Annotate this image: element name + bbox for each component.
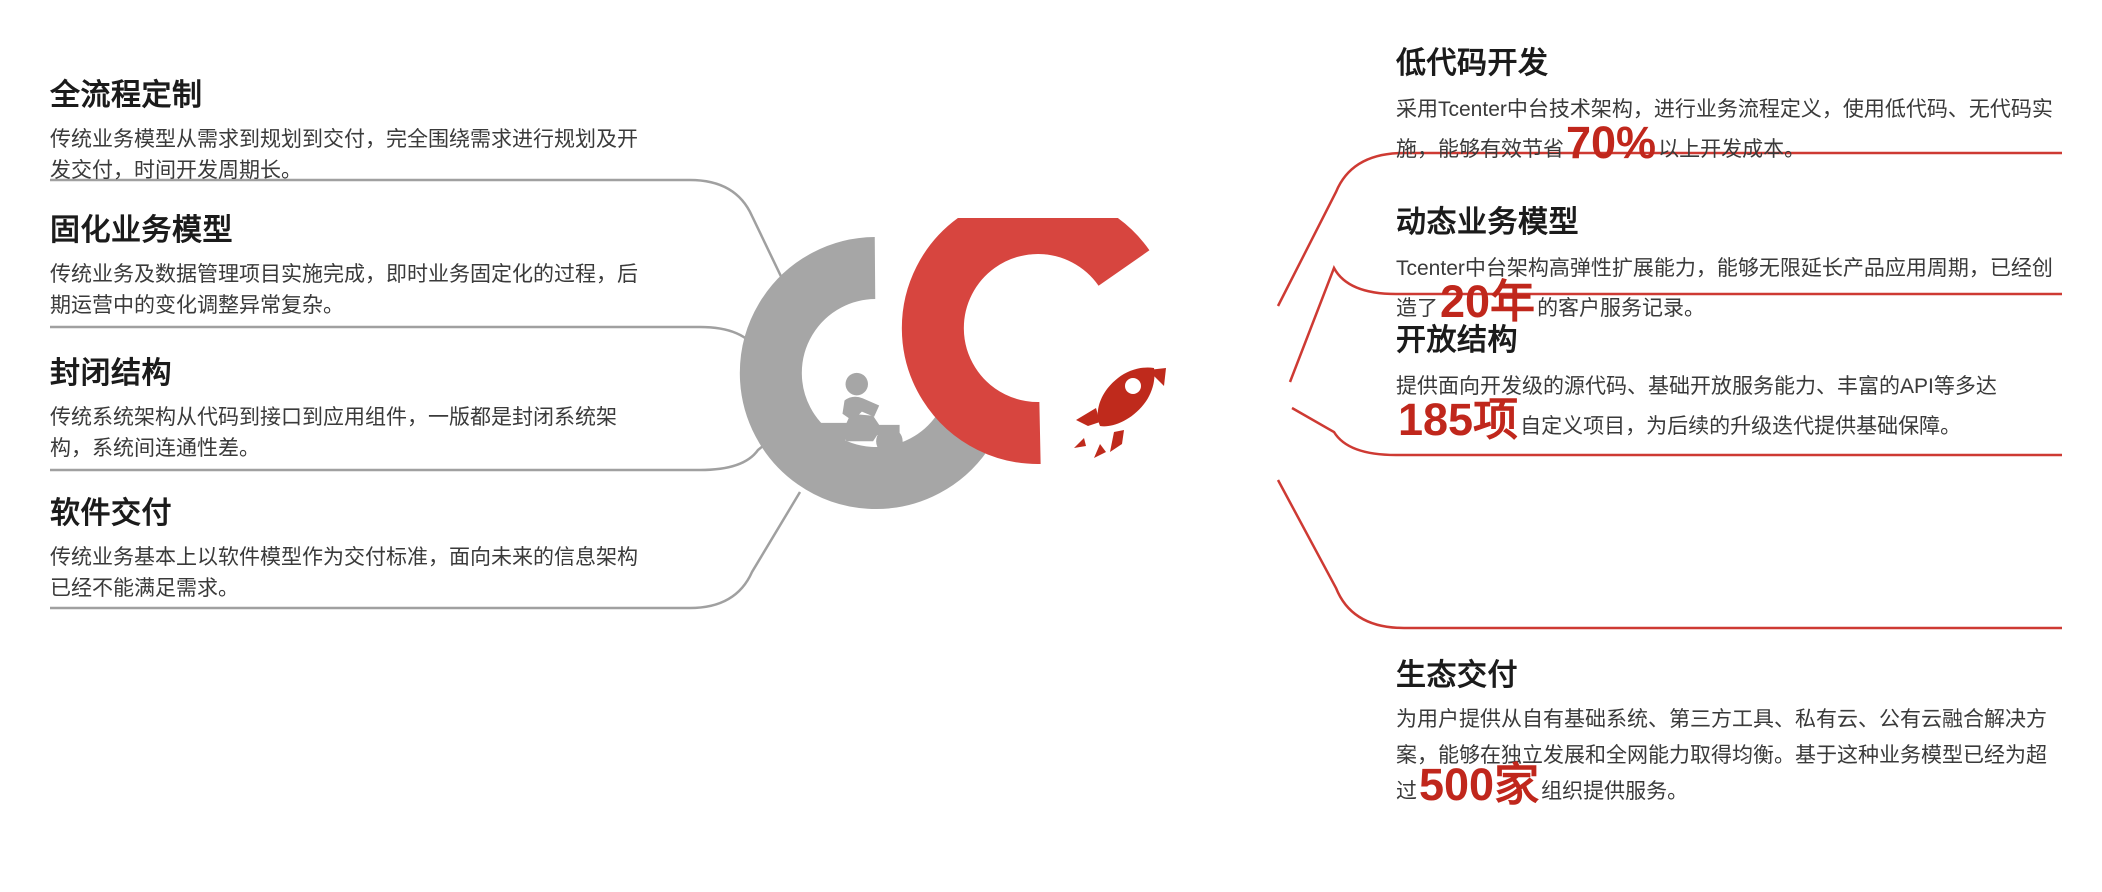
- left-item-1-title: 全流程定制: [50, 70, 640, 114]
- right-item-3-body: 提供面向开发级的源代码、基础开放服务能力、丰富的API等多达185项自定义项目，…: [1396, 367, 2066, 447]
- left-item-1-body: 传统业务模型从需求到规划到交付，完全围绕需求进行规划及开发交付，时间开发周期长。: [50, 124, 640, 186]
- right-item-2-title: 动态业务模型: [1396, 197, 2066, 241]
- quad-bike-icon: [819, 373, 903, 455]
- left-item-3: 封闭结构 传统系统架构从代码到接口到应用组件，一版都是封闭系统架构，系统间连通性…: [50, 348, 640, 464]
- center-infinity-graphic: [700, 218, 1320, 648]
- left-item-1: 全流程定制 传统业务模型从需求到规划到交付，完全围绕需求进行规划及开发交付，时间…: [50, 70, 640, 186]
- right-item-4-body: 为用户提供从自有基础系统、第三方工具、私有云、公有云融合解决方案，能够在独立发展…: [1396, 702, 2066, 810]
- right-item-3-body-part2: 自定义项目，为后续的升级迭代提供基础保障。: [1520, 415, 1961, 438]
- left-item-4-title: 软件交付: [50, 488, 640, 532]
- left-item-3-body: 传统系统架构从代码到接口到应用组件，一版都是封闭系统架构，系统间连通性差。: [50, 402, 640, 464]
- right-item-1-title: 低代码开发: [1396, 38, 2066, 82]
- left-item-2: 固化业务模型 传统业务及数据管理项目实施完成，即时业务固定化的过程，后期运营中的…: [50, 205, 640, 321]
- left-item-2-body: 传统业务及数据管理项目实施完成，即时业务固定化的过程，后期运营中的变化调整异常复…: [50, 259, 640, 321]
- right-item-3-highlight: 185项: [1396, 394, 1520, 445]
- connector-right-4: [1278, 480, 2062, 628]
- right-item-4: 生态交付 为用户提供从自有基础系统、第三方工具、私有云、公有云融合解决方案，能够…: [1396, 650, 2066, 810]
- left-item-4-body: 传统业务基本上以软件模型作为交付标准，面向未来的信息架构已经不能满足需求。: [50, 542, 640, 604]
- rocket-icon: [1074, 367, 1166, 458]
- right-item-3-title: 开放结构: [1396, 315, 2066, 359]
- left-item-3-title: 封闭结构: [50, 348, 640, 392]
- right-item-3: 开放结构 提供面向开发级的源代码、基础开放服务能力、丰富的API等多达185项自…: [1396, 315, 2066, 447]
- right-item-1-highlight: 70%: [1564, 117, 1658, 168]
- red-ring: [933, 223, 1124, 433]
- right-item-4-highlight: 500家: [1417, 759, 1541, 810]
- right-item-1: 低代码开发 采用Tcenter中台技术架构，进行业务流程定义，使用低代码、无代码…: [1396, 38, 2066, 170]
- left-item-4: 软件交付 传统业务基本上以软件模型作为交付标准，面向未来的信息架构已经不能满足需…: [50, 488, 640, 604]
- infographic-canvas: 全流程定制 传统业务模型从需求到规划到交付，完全围绕需求进行规划及开发交付，时间…: [0, 0, 2102, 892]
- right-item-2: 动态业务模型 Tcenter中台架构高弹性扩展能力，能够无限延长产品应用周期，已…: [1396, 197, 2066, 329]
- right-item-4-title: 生态交付: [1396, 650, 2066, 694]
- right-item-1-body-part2: 以上开发成本。: [1658, 138, 1805, 161]
- right-item-4-body-part2: 组织提供服务。: [1541, 780, 1688, 803]
- right-item-1-body: 采用Tcenter中台技术架构，进行业务流程定义，使用低代码、无代码实施，能够有…: [1396, 90, 2066, 170]
- left-item-2-title: 固化业务模型: [50, 205, 640, 249]
